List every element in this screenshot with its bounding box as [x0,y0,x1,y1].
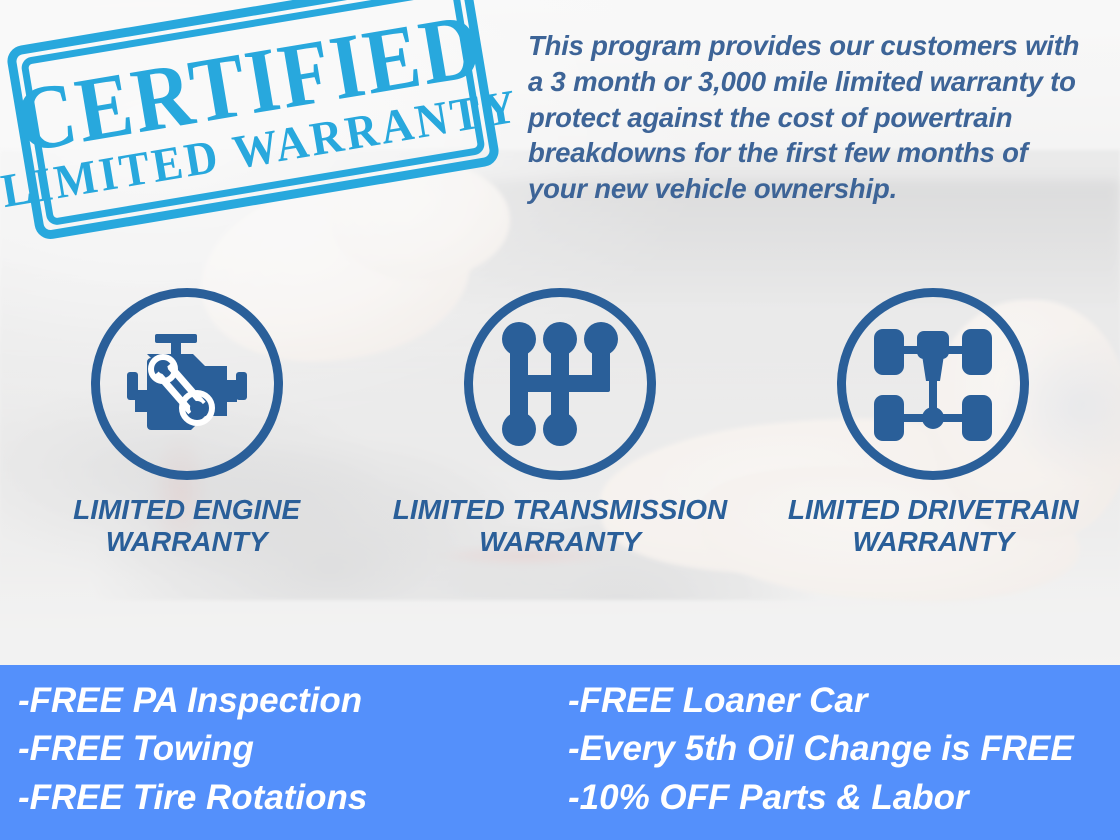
perk-item: -FREE Tire Rotations [18,775,560,822]
feature-limited-drivetrain: LIMITED DRIVETRAIN WARRANTY [747,288,1120,559]
program-description: This program provides our customers with… [528,28,1088,207]
drivetrain-icon-circle [837,288,1029,480]
coverage-features: LIMITED ENGINE WARRANTY [0,288,1120,559]
feature-limited-engine: LIMITED ENGINE WARRANTY [0,288,373,559]
perks-column-right: -FREE Loaner Car -Every 5th Oil Change i… [560,678,1120,822]
perks-banner: -FREE PA Inspection -FREE Towing -FREE T… [0,665,1120,840]
warranty-poster: CERTIFIED LIMITED WARRANTY This program … [0,0,1120,840]
gear-shifter-icon-circle [464,288,656,480]
perks-column-left: -FREE PA Inspection -FREE Towing -FREE T… [0,678,560,822]
perk-item: -FREE PA Inspection [18,678,560,725]
engine-icon-circle [91,288,283,480]
perk-item: -Every 5th Oil Change is FREE [568,726,1120,773]
perk-item: -10% OFF Parts & Labor [568,775,1120,822]
perk-item: -FREE Towing [18,726,560,773]
feature-limited-transmission: LIMITED TRANSMISSION WARRANTY [373,288,746,559]
engine-icon [125,328,249,440]
drivetrain-icon [870,321,996,447]
feature-label: LIMITED ENGINE WARRANTY [73,494,300,559]
feature-label: LIMITED TRANSMISSION WARRANTY [393,494,727,559]
gear-shifter-icon [500,321,620,447]
feature-label: LIMITED DRIVETRAIN WARRANTY [788,494,1079,559]
perk-item: -FREE Loaner Car [568,678,1120,725]
